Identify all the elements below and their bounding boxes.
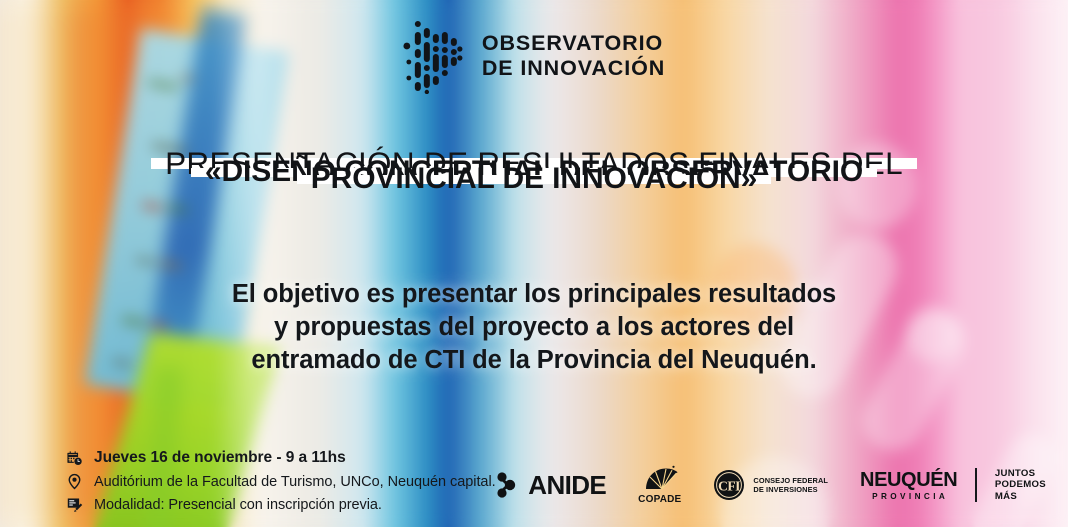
partner-anide: ANIDE <box>496 470 606 501</box>
neuquen-wordmark: NEUQUÉN <box>860 470 957 490</box>
cfi-line-2: DE INVERSIONES <box>753 485 828 494</box>
logo-divider <box>975 468 977 502</box>
partner-copade: COPADE <box>638 465 681 505</box>
anide-molecule-icon <box>496 470 520 500</box>
neuquen-subtitle: PROVINCIA <box>872 492 948 501</box>
detail-date-text: Jueves 16 de noviembre - 9 a 11hs <box>94 449 346 467</box>
partner-neuquen: NEUQUÉN PROVINCIA JUNTOS PODEMOS MÁS <box>860 468 1046 502</box>
detail-date: Jueves 16 de noviembre - 9 a 11hs <box>66 449 496 467</box>
partner-cfi: CFI CONSEJO FEDERAL DE INVERSIONES <box>713 469 828 501</box>
copade-wordmark: COPADE <box>638 494 681 505</box>
title-line-3: PROVINCIAL DE INNOVACIÓN» <box>0 175 1068 184</box>
cfi-circle-icon: CFI <box>713 469 745 501</box>
detail-modality: Modalidad: Presencial con inscripción pr… <box>66 496 496 513</box>
event-flyer: OBSERVATORIO DE INNOVACIÓN PRESENTACIÓN … <box>0 0 1068 527</box>
detail-modality-text: Modalidad: Presencial con inscripción pr… <box>94 497 382 513</box>
anide-wordmark: ANIDE <box>528 470 606 501</box>
detail-location: Auditórium de la Facultad de Turismo, UN… <box>66 473 496 490</box>
copade-fan-icon <box>640 465 680 493</box>
detail-location-text: Auditórium de la Facultad de Turismo, UN… <box>94 474 496 490</box>
brand-line-1: OBSERVATORIO <box>482 31 665 56</box>
description-line-1: El objetivo es presentar los principales… <box>0 278 1068 311</box>
observatorio-dot-triangle-icon <box>403 18 465 94</box>
slogan-line-2: PODEMOS <box>995 479 1046 490</box>
neuquen-logo: NEUQUÉN PROVINCIA <box>860 470 957 501</box>
event-details: Jueves 16 de noviembre - 9 a 11hs Auditó… <box>66 449 496 513</box>
cfi-wordmark: CONSEJO FEDERAL DE INVERSIONES <box>753 476 828 494</box>
description-line-2: y propuestas del proyecto a los actores … <box>0 311 1068 344</box>
form-signup-icon <box>66 496 83 513</box>
brand-line-2: DE INNOVACIÓN <box>482 56 665 81</box>
observatorio-wordmark: OBSERVATORIO DE INNOVACIÓN <box>482 31 665 81</box>
neuquen-slogan: JUNTOS PODEMOS MÁS <box>995 468 1046 502</box>
slogan-line-1: JUNTOS <box>995 468 1046 479</box>
event-description: El objetivo es presentar los principales… <box>0 278 1068 377</box>
description-line-3: entramado de CTI de la Provincia del Neu… <box>0 344 1068 377</box>
svg-text:CFI: CFI <box>719 478 741 493</box>
partner-logos: ANIDE COPADE C <box>496 465 1046 505</box>
observatorio-logo: OBSERVATORIO DE INNOVACIÓN <box>403 18 665 94</box>
location-pin-icon <box>66 473 83 490</box>
slogan-line-3: MÁS <box>995 491 1046 502</box>
calendar-clock-icon <box>66 450 83 467</box>
cfi-line-1: CONSEJO FEDERAL <box>753 476 828 485</box>
title-line-3-text: PROVINCIAL DE INNOVACIÓN» <box>297 175 771 184</box>
page-title: PRESENTACIÓN DE RESULTADOS FINALES DEL «… <box>0 158 1068 184</box>
